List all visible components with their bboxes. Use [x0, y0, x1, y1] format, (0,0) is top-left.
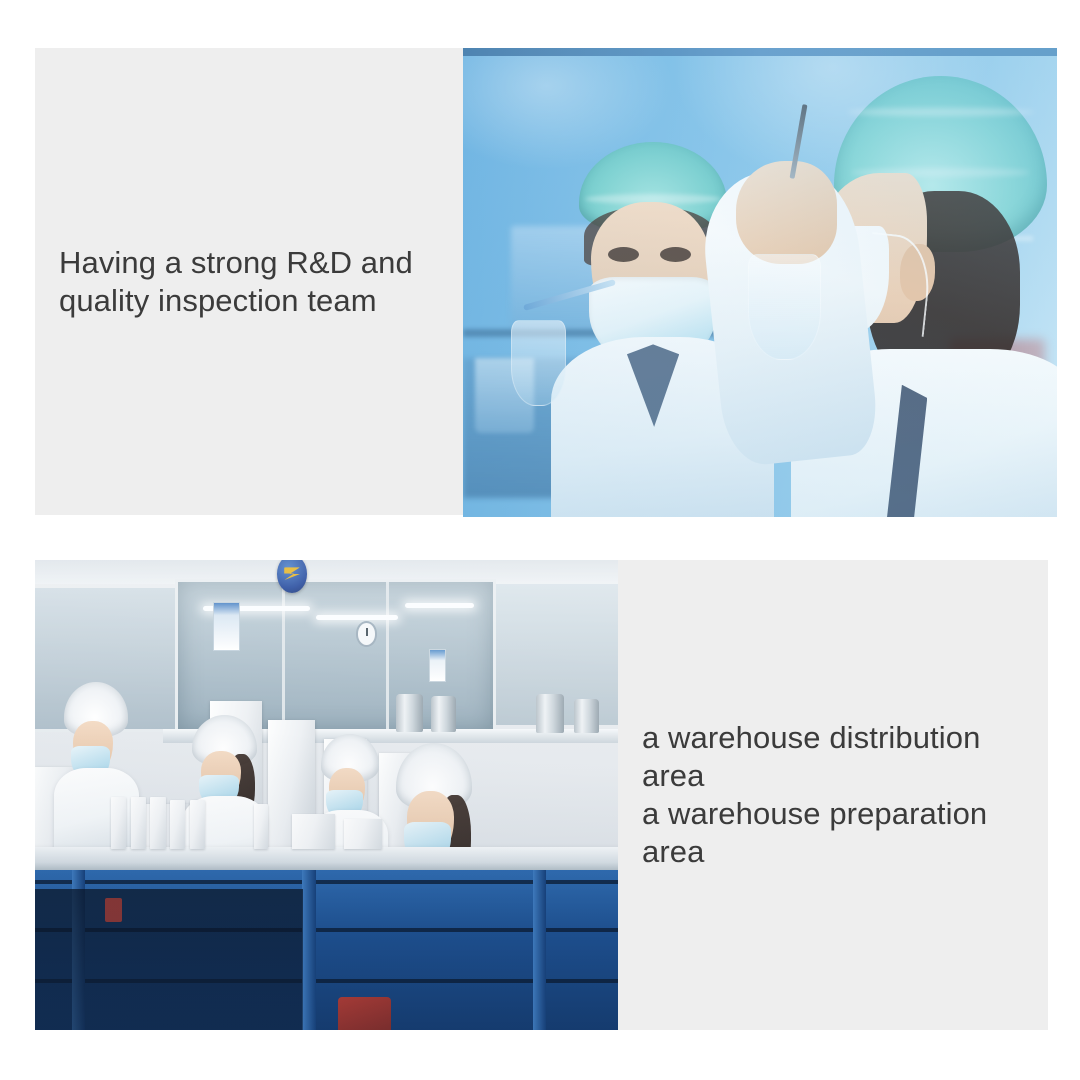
product-carton [190, 800, 205, 849]
wall-poster [213, 602, 241, 651]
table-rail [35, 880, 618, 884]
lab-ceiling-band [463, 48, 1057, 56]
steel-drum [574, 699, 598, 734]
ceiling-light-icon [316, 615, 398, 620]
steel-drum [431, 696, 455, 732]
red-marker [105, 898, 122, 922]
steel-drum [396, 694, 423, 733]
lab-flask-small [511, 320, 566, 406]
wall-clock-icon [356, 621, 377, 647]
rnd-caption-text: Having a strong R&D and quality inspecti… [35, 244, 413, 320]
product-carton [111, 797, 126, 849]
lab-quality-inspection-photo [463, 48, 1057, 517]
hand-holding-sample [736, 161, 837, 264]
window-mullion [282, 582, 285, 732]
under-table-shadow [35, 889, 303, 1030]
ceiling-light-icon [405, 603, 474, 608]
product-carton [344, 819, 382, 850]
warehouse-packing-photo [35, 560, 618, 1030]
product-carton [254, 804, 268, 849]
table-leg [302, 870, 315, 1030]
lab-flask-icon [748, 254, 821, 359]
product-carton [170, 800, 185, 849]
red-bin [338, 997, 390, 1030]
collage-page: Having a strong R&D and quality inspecti… [0, 0, 1080, 1080]
product-carton [150, 797, 165, 849]
steel-drum [536, 694, 564, 733]
table-leg [533, 870, 546, 1030]
warehouse-caption-panel: a warehouse distribution area a warehous… [618, 560, 1048, 1030]
technician-eye-right [660, 247, 691, 262]
technician-eye-left [608, 247, 639, 262]
product-carton [131, 797, 146, 849]
warehouse-caption-text: a warehouse distribution area a warehous… [618, 719, 1048, 870]
rnd-caption-panel: Having a strong R&D and quality inspecti… [35, 48, 465, 515]
product-carton [292, 814, 336, 849]
wall-poster [429, 649, 446, 682]
window-mullion [386, 582, 389, 732]
